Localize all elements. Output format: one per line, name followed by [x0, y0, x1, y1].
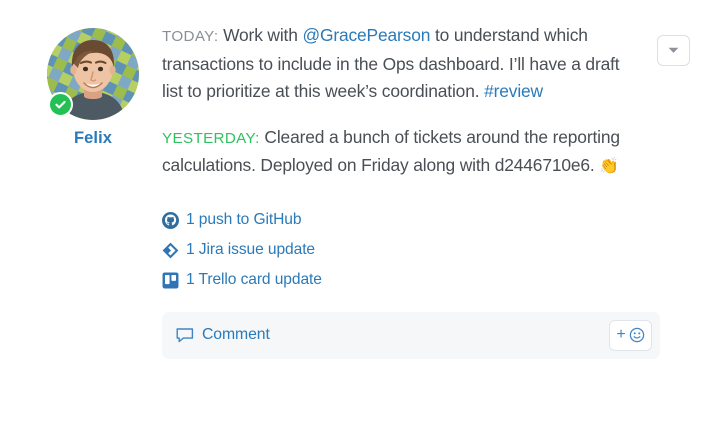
add-reaction-button[interactable]: +	[609, 320, 652, 351]
chevron-down-icon	[668, 47, 679, 54]
github-icon	[162, 212, 179, 229]
more-options-button[interactable]	[657, 35, 690, 66]
comment-bar: Comment +	[162, 312, 660, 359]
integration-label: 1 Trello card update	[186, 271, 322, 289]
day-label-today: TODAY:	[162, 28, 218, 45]
day-label-yesterday: YESTERDAY:	[162, 130, 260, 147]
avatar[interactable]	[47, 28, 139, 120]
update-body: TODAY: Work with @GracePearson to unders…	[152, 22, 690, 430]
comment-button[interactable]: Comment	[176, 326, 609, 344]
mention-link[interactable]: @GracePearson	[302, 25, 430, 45]
standup-update-card: Felix TODAY: Work with @GracePearson to …	[0, 0, 720, 430]
author-name: Felix	[74, 129, 112, 147]
hashtag-link[interactable]: #review	[484, 81, 543, 101]
integration-list: 1 push to GitHub 1 Jira issue update	[162, 208, 690, 293]
entry-list: TODAY: Work with @GracePearson to unders…	[162, 22, 690, 180]
comment-label: Comment	[202, 326, 270, 344]
integration-item-github[interactable]: 1 push to GitHub	[162, 208, 650, 233]
jira-icon	[162, 242, 179, 259]
entry-today: TODAY: Work with @GracePearson to unders…	[162, 22, 635, 106]
smiley-face-icon	[629, 327, 645, 343]
entry-text: Work with	[218, 25, 302, 45]
clapping-hands-emoji: 👏	[599, 156, 619, 175]
integration-item-jira[interactable]: 1 Jira issue update	[162, 238, 650, 263]
comment-bubble-icon	[176, 326, 194, 344]
author-column: Felix	[34, 22, 152, 430]
integration-label: 1 Jira issue update	[186, 241, 315, 259]
integration-item-trello[interactable]: 1 Trello card update	[162, 268, 650, 293]
entry-yesterday: YESTERDAY: Cleared a bunch of tickets ar…	[162, 124, 635, 180]
check-circle-icon	[48, 92, 73, 117]
trello-icon	[162, 272, 179, 289]
plus-icon: +	[616, 327, 625, 343]
integration-label: 1 push to GitHub	[186, 211, 301, 229]
